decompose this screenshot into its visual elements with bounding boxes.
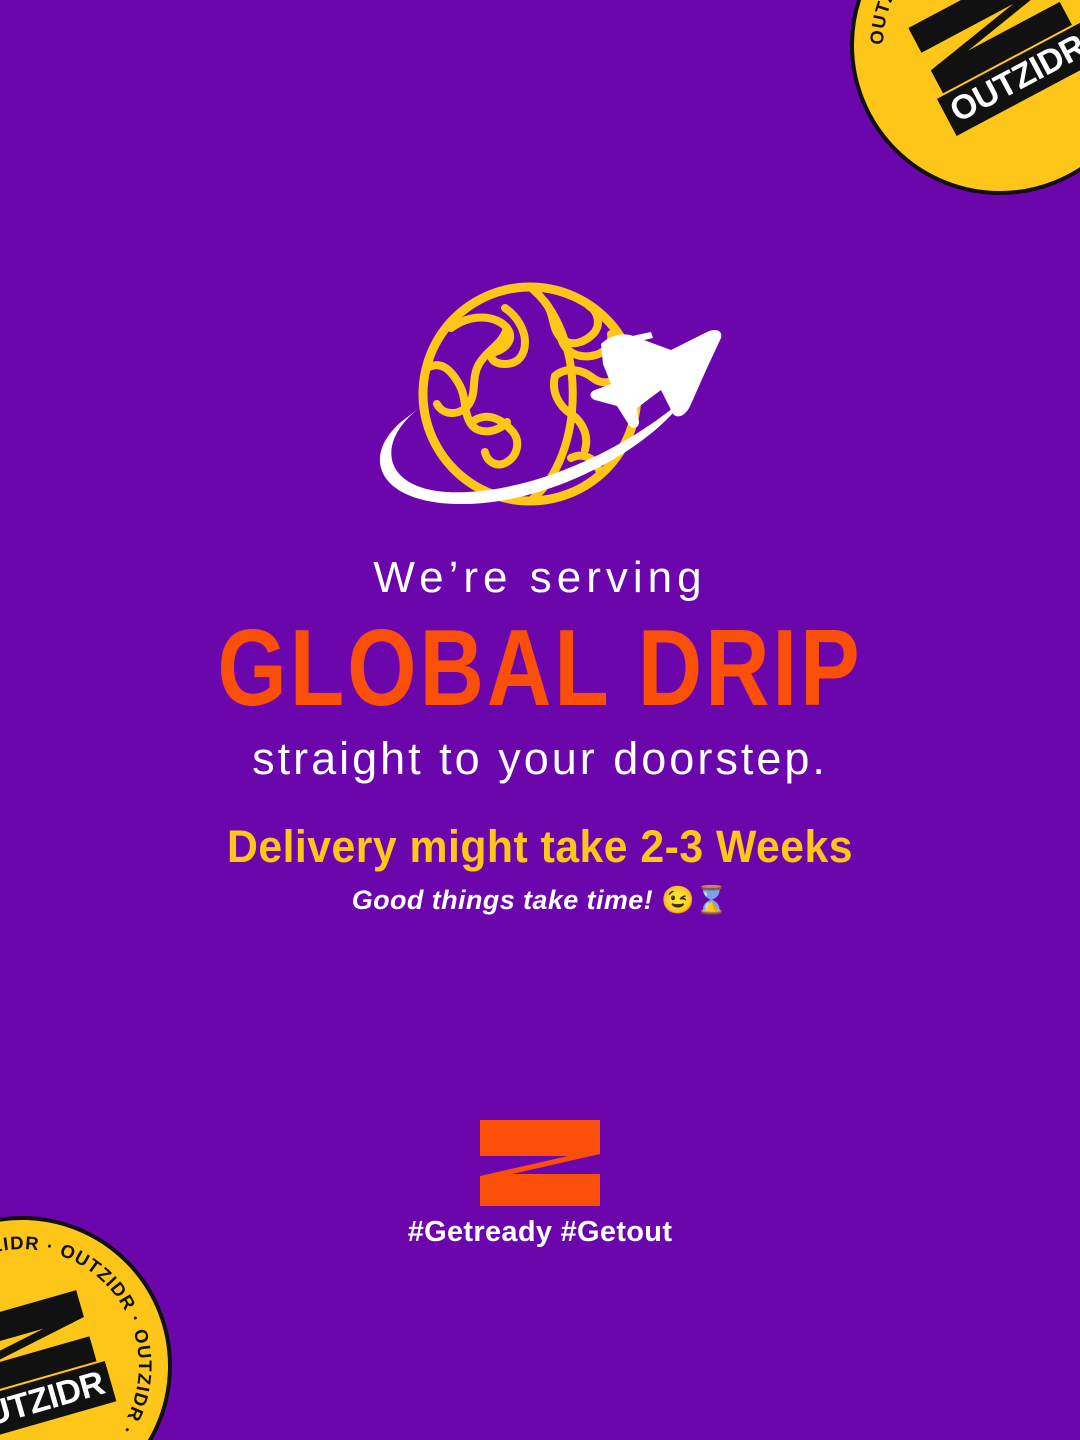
delivery-time-text: Delivery might take 2-3 Weeks [27,822,1053,872]
headline-block: We’re serving GLOBAL DRIP straight to yo… [0,552,1080,785]
headline-line-2: GLOBAL DRIP [16,614,1064,723]
delivery-notice-block: Delivery might take 2-3 Weeks Good thing… [0,822,1080,916]
outzidr-badge-top-right: OUTZIDR · OUTZIDR · OUTZIDR · OUTZIDR · … [850,0,1080,195]
hashtags-text: #Getready #Getout [408,1216,673,1249]
delivery-subtext-label: Good things take time! [352,885,653,915]
z-logo-icon [478,1118,602,1208]
delivery-subtext: Good things take time! 😉⌛ [0,884,1080,916]
headline-line-3: straight to your doorstep. [0,732,1080,785]
outzidr-badge-bottom-left: OUTZIDR · OUTZIDR · OUTZIDR · OUTZIDR · … [0,1216,172,1440]
wink-hourglass-emoji: 😉⌛ [661,885,728,915]
promo-poster: We’re serving GLOBAL DRIP straight to yo… [0,0,1080,1440]
globe-airplane-illustration [0,272,1080,522]
headline-line-1: We’re serving [0,552,1080,604]
